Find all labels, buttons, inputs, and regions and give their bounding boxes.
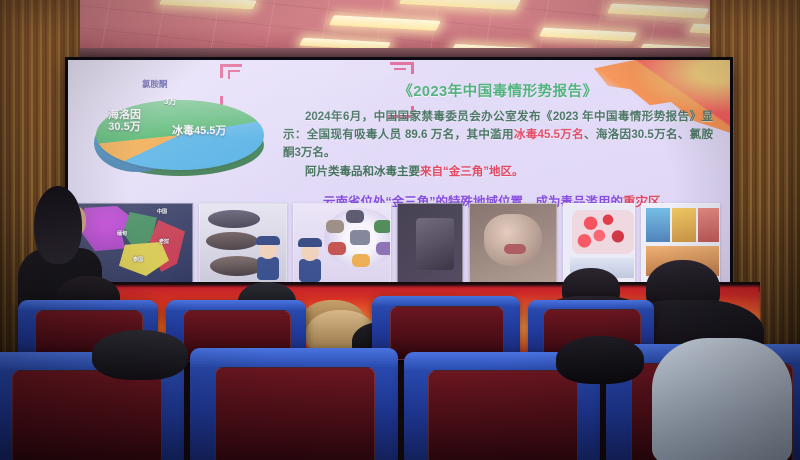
- slide-paragraph-2: 阿片类毒品和冰毒主要来自“金三角”地区。: [283, 164, 713, 182]
- photo-police-drug-samples: [199, 203, 287, 283]
- lecture-hall-photo: 冰毒45.5万 海洛因 30.5万 氯胺酮 3万 《2023年中国毒情形势报告》…: [0, 0, 800, 460]
- paragraph-1-highlight: 冰毒45.5万名: [514, 129, 584, 141]
- sample-tray: [206, 232, 258, 250]
- slide-text-block: 《2023年中国毒情形势报告》 2024年6月，中国国家禁毒委员会办公室发布《2…: [283, 68, 713, 210]
- presenter-hair: [34, 186, 82, 264]
- photo-dark-scene: [397, 203, 463, 283]
- map-label-laos: 老挝: [159, 238, 169, 245]
- pie-chart: 冰毒45.5万 海洛因 30.5万 氯胺酮 3万: [86, 74, 274, 194]
- photo-drug-identification-wheel: [293, 203, 392, 283]
- auditorium-seat: [372, 296, 520, 358]
- pie-label-heroin: 海洛因 30.5万: [108, 110, 141, 133]
- sample-tray: [208, 210, 260, 228]
- paragraph-2-part-a: 阿片类毒品和冰毒主要: [305, 166, 420, 178]
- pie-label-heroin-value: 30.5万: [108, 121, 140, 133]
- cartoon-police-officer: [296, 236, 324, 282]
- paragraph-2-highlight: 来自“金三角”地区。: [420, 166, 524, 178]
- presentation-slide: 冰毒45.5万 海洛因 30.5万 氯胺酮 3万 《2023年中国毒情形势报告》…: [68, 60, 730, 285]
- pie-label-ketamine-value: 3万: [164, 96, 176, 107]
- auditorium-seat: [190, 348, 398, 460]
- slide-title: 《2023年中国毒情形势报告》: [283, 80, 713, 101]
- pie-label-heroin-name: 海洛因: [108, 109, 141, 121]
- slide-paragraph-1: 2024年6月，中国国家禁毒委员会办公室发布《2023 年中国毒情形势报告》显示…: [283, 109, 713, 162]
- audience-shoulders-foreground: [652, 338, 792, 460]
- photo-strip: 中国 缅甸 老挝 泰国: [78, 203, 720, 281]
- pie-label-methamphetamine: 冰毒45.5万: [172, 126, 226, 138]
- projection-screen: 冰毒45.5万 海洛因 30.5万 氯胺酮 3万 《2023年中国毒情形势报告》…: [68, 60, 730, 285]
- map-label-myanmar: 缅甸: [117, 230, 127, 237]
- map-label-thailand: 泰国: [133, 256, 143, 263]
- map-label-china: 中国: [157, 208, 167, 215]
- audience-head-foreground: [92, 330, 188, 380]
- cartoon-police-officer: [254, 234, 282, 280]
- photo-person: [469, 203, 557, 283]
- pie-label-ketamine: 氯胺酮: [142, 80, 168, 89]
- audience-head-foreground: [556, 336, 644, 384]
